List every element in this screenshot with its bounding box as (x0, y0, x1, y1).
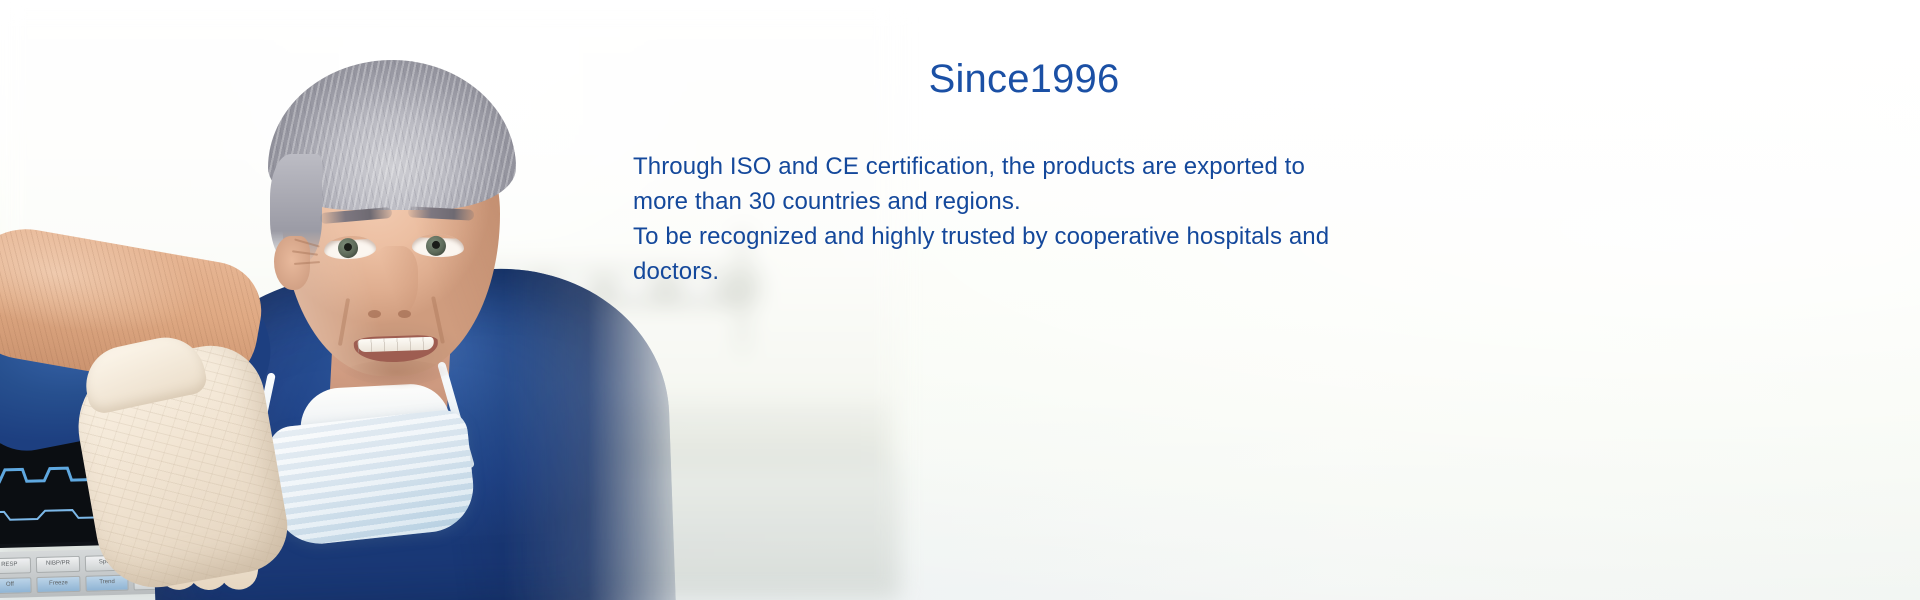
iris (338, 238, 359, 259)
mask-pleats (266, 408, 477, 548)
doctor-head (268, 60, 520, 390)
hero-banner: WATT 5 (0, 0, 1920, 600)
resp-waveform-icon (0, 503, 106, 527)
doctor-teeth (358, 337, 434, 353)
monitor-key: RESP (0, 557, 31, 574)
monitor-key: NIBP/PR (36, 556, 80, 573)
doctor-nose (372, 246, 418, 318)
surgical-mask (266, 408, 477, 548)
banner-description-line-1: Through ISO and CE certification, the pr… (633, 149, 1333, 219)
banner-description-line-2: To be recognized and highly trusted by c… (633, 219, 1333, 289)
doctor-photo: WATT 5 (0, 0, 700, 600)
chin-shadow (342, 360, 452, 390)
banner-description: Through ISO and CE certification, the pr… (633, 149, 1333, 289)
iris (426, 236, 447, 257)
monitor-waveform-resp (0, 503, 106, 547)
doctor-eye-right (412, 233, 465, 258)
monitor-key: Off (0, 577, 32, 594)
banner-headline: Since1996 (624, 54, 1424, 104)
monitor-key: Freeze (36, 576, 80, 593)
